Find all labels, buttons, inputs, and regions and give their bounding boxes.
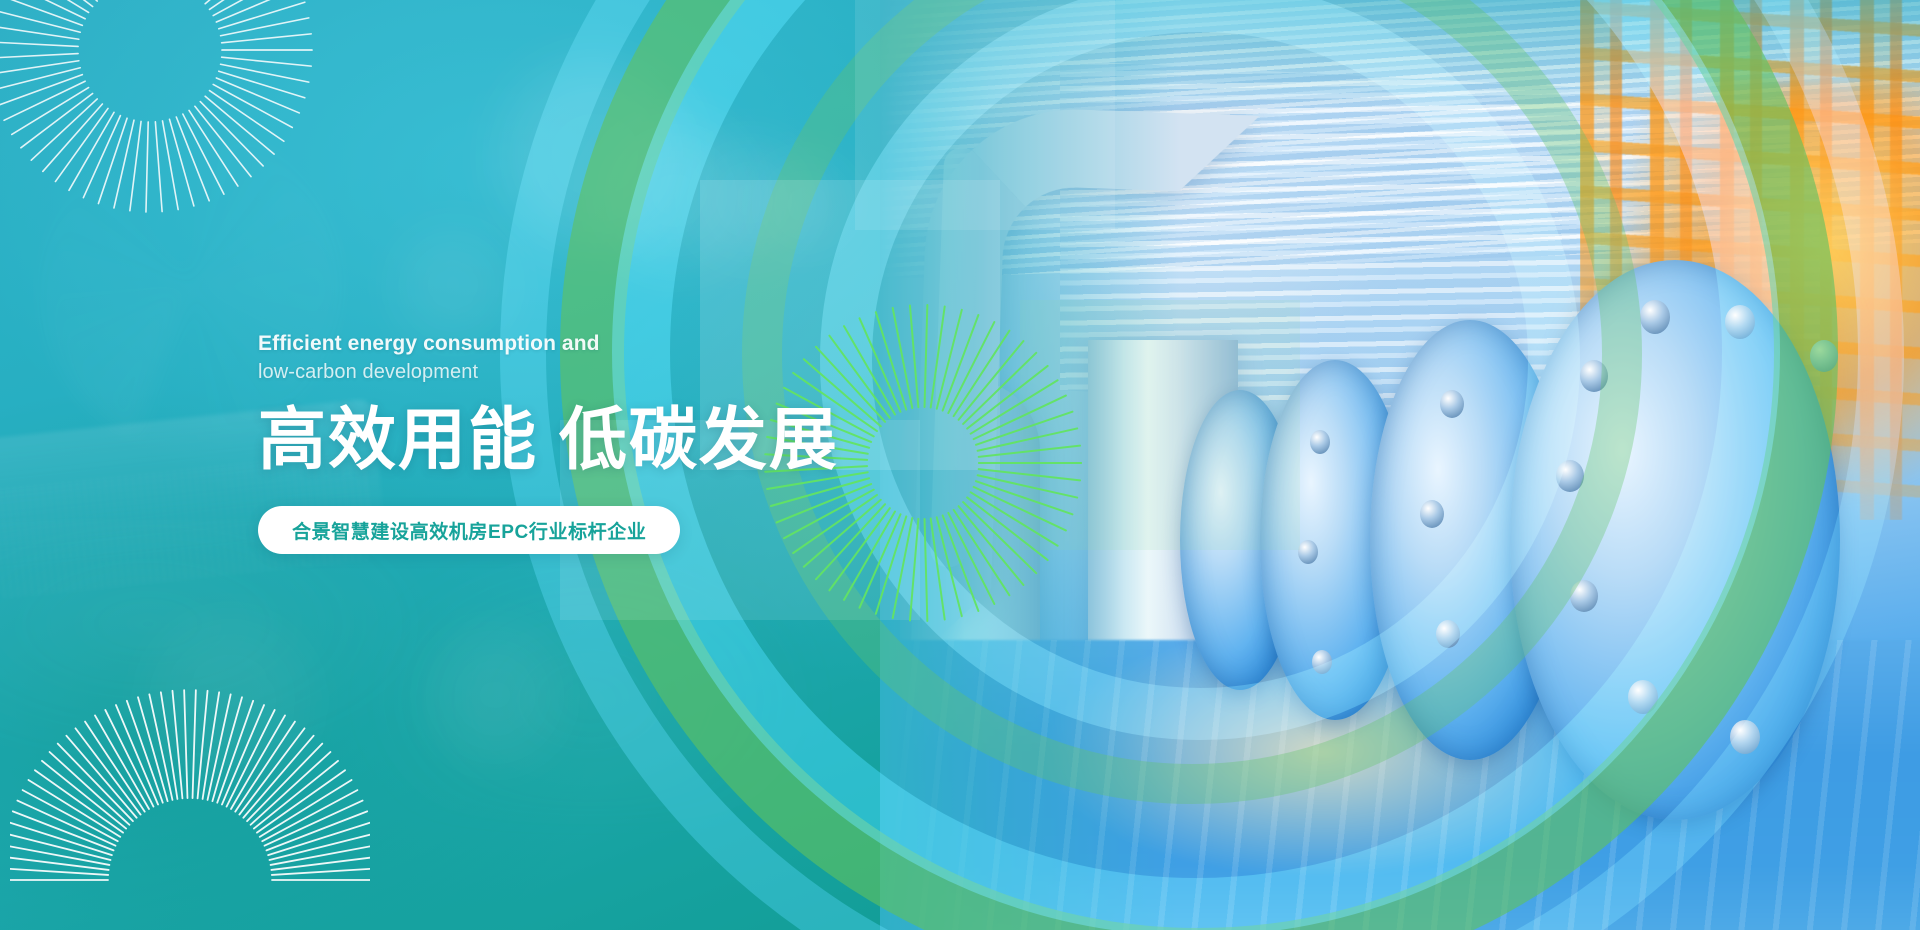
photo-bolt [1730, 720, 1760, 754]
photo-bolt [1310, 430, 1330, 454]
photo-bolt [1570, 580, 1598, 612]
cta-button[interactable]: 合景智慧建设高效机房EPC行业标杆企业 [258, 506, 680, 554]
photo-bolt [1298, 540, 1318, 564]
bokeh-circle [430, 630, 560, 760]
photo-bolt [1436, 620, 1460, 648]
bokeh-circle [150, 620, 310, 780]
background-ghost-shape [330, 520, 850, 820]
photo-bolt [1556, 460, 1584, 492]
hero-text-block: Efficient energy consumption and low-car… [258, 330, 978, 554]
photo-bolt [1628, 680, 1658, 714]
photo-bolt [1420, 500, 1444, 528]
industrial-photo [880, 0, 1920, 930]
eyebrow-line-2: low-carbon development [258, 358, 978, 386]
photo-bolt [1580, 360, 1608, 392]
photo-flange [1510, 260, 1840, 820]
hero-banner: Efficient energy consumption and low-car… [0, 0, 1920, 930]
photo-top-fade [880, 0, 1920, 110]
eyebrow-line-1: Efficient energy consumption and [258, 330, 978, 358]
bokeh-circle [398, 230, 508, 340]
bokeh-circle [760, 160, 850, 250]
photo-bolt [1440, 390, 1464, 418]
page-title: 高效用能 低碳发展 [258, 400, 978, 480]
photo-bolt [1640, 300, 1670, 334]
photo-bolt [1312, 650, 1332, 674]
photo-bolt [1725, 305, 1755, 339]
photo-bolt [1810, 340, 1838, 372]
